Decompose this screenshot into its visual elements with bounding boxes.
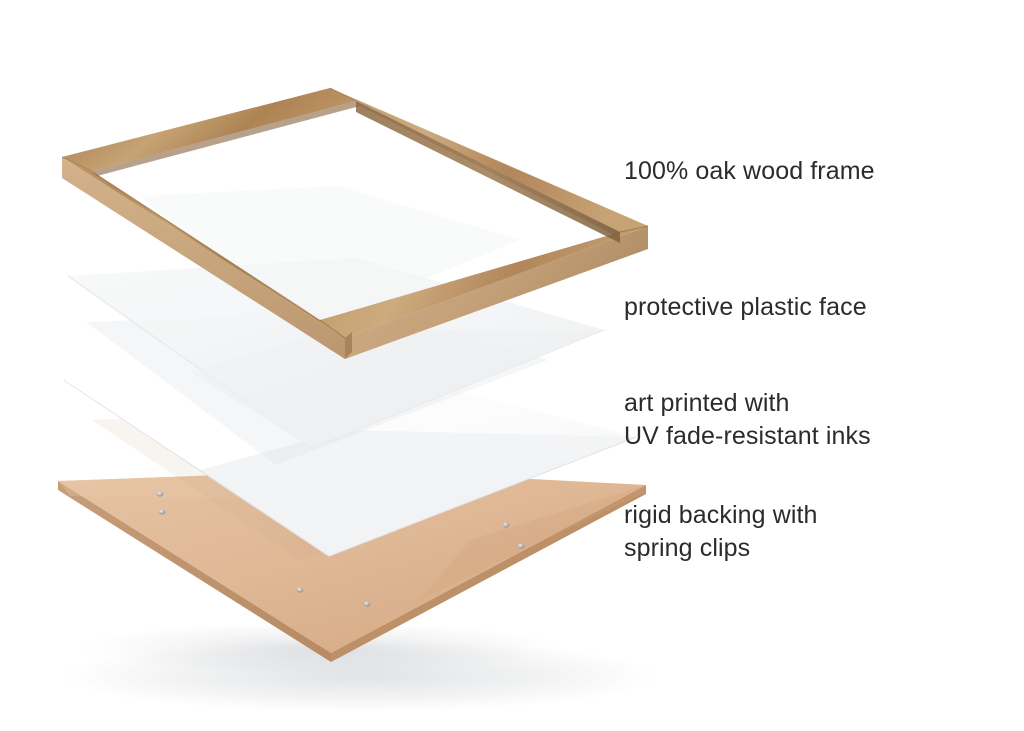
spring-clip (518, 543, 525, 548)
callout-label-rigid-backing: rigid backing with spring clips (624, 499, 818, 565)
spring-clip (159, 509, 166, 514)
callout-label-plastic-face: protective plastic face (624, 291, 867, 324)
exploded-frame-diagram: 100% oak wood frame protective plastic f… (0, 0, 1024, 731)
callout-label-oak-frame: 100% oak wood frame (624, 155, 875, 188)
spring-clip (364, 601, 371, 606)
frame-rabbet-top (92, 101, 360, 176)
spring-clip (297, 587, 304, 592)
diagram-artwork (0, 0, 1024, 731)
frame-rail-top-left (62, 88, 356, 171)
spring-clip (503, 522, 510, 527)
callout-label-art-print: art printed with UV fade-resistant inks (624, 387, 871, 453)
spring-clip (157, 491, 164, 496)
